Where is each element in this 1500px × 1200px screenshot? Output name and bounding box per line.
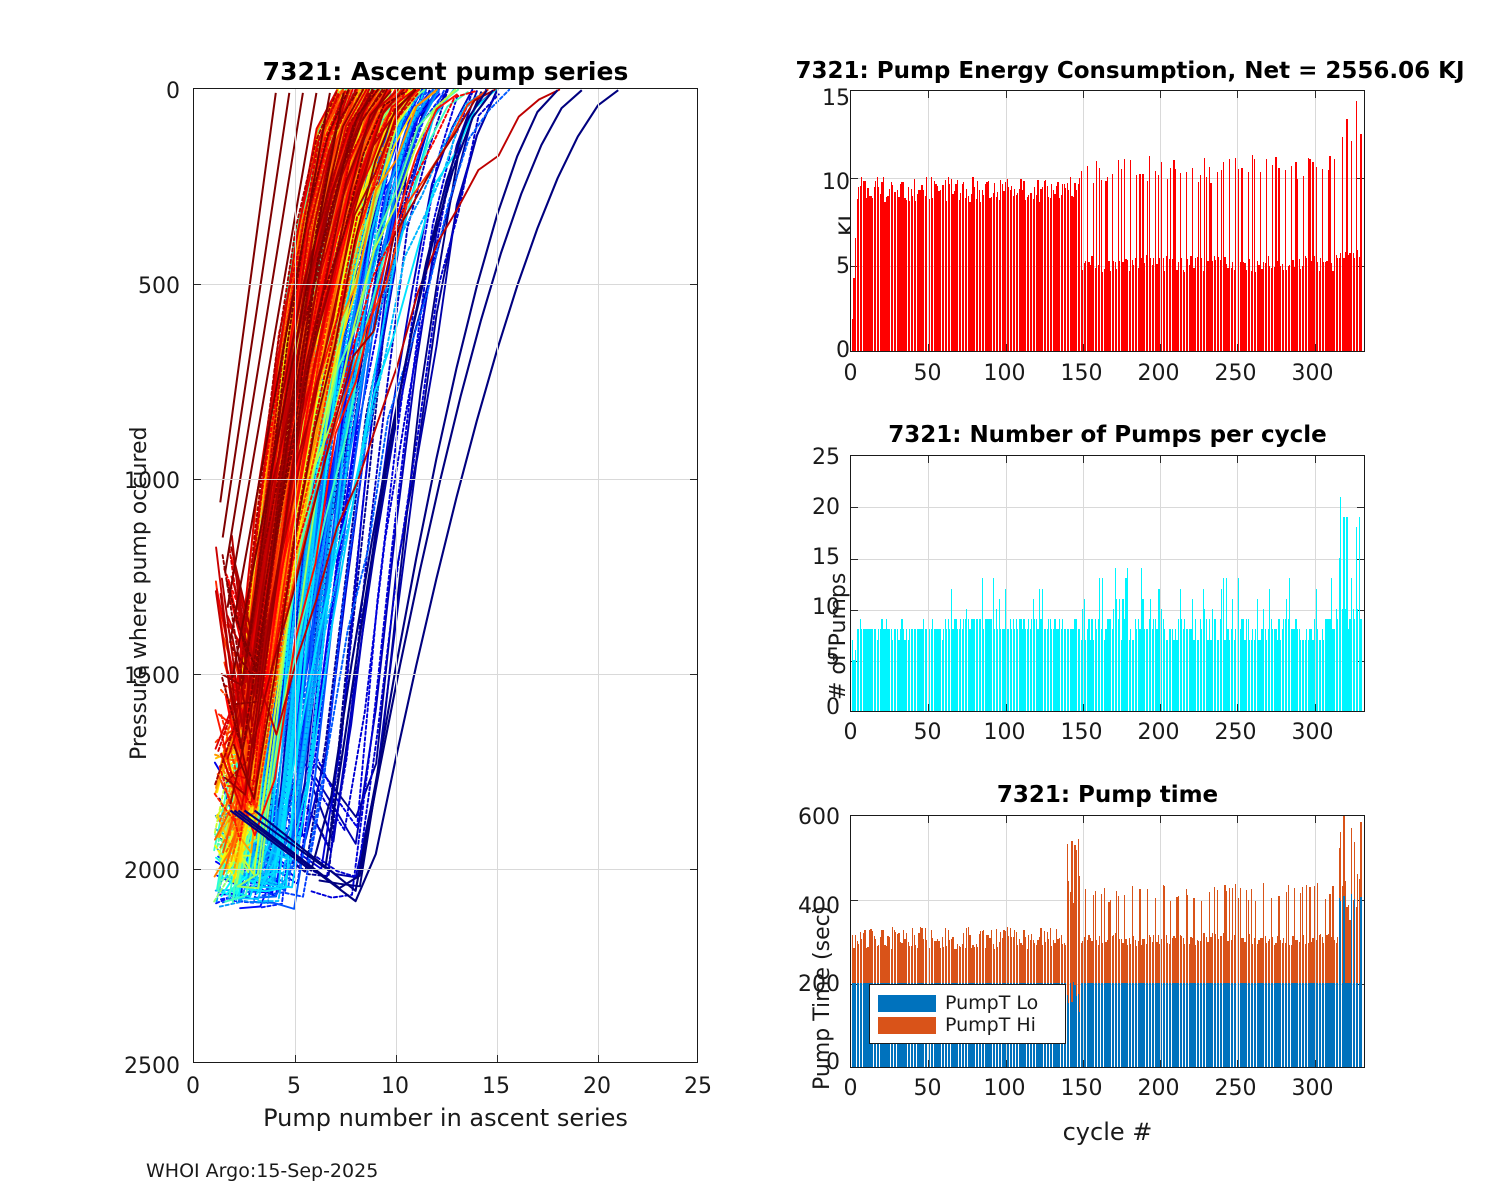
ascent-profile-lines xyxy=(194,89,698,1063)
pumps-x-tickmarks xyxy=(851,456,1364,711)
ascent-tickmark-y1000 xyxy=(194,479,201,480)
pumps-x-tick-0: 0 xyxy=(823,720,878,745)
x-tickmark-top xyxy=(928,816,929,823)
ascent-gridline-x20 xyxy=(598,89,599,1062)
x-tickmark xyxy=(1237,344,1238,351)
ascent-gridline-y500 xyxy=(194,284,697,285)
x-tickmark xyxy=(1083,1060,1084,1067)
pumps-plot-area[interactable] xyxy=(850,455,1365,712)
pumptime-legend[interactable]: PumpT Lo PumpT Hi xyxy=(869,984,1066,1044)
ascent-x-axis-label: Pump number in ascent series xyxy=(193,1104,698,1132)
ascent-chart-title: 7321: Ascent pump series xyxy=(193,57,698,86)
pumps-x-tick-150: 150 xyxy=(1054,720,1109,745)
energy-x-tickmarks xyxy=(851,91,1364,351)
ascent-tickmark-y1000-right xyxy=(690,479,697,480)
x-tickmark-top xyxy=(1160,456,1161,463)
ascent-tickmark-x15 xyxy=(497,1055,498,1062)
ascent-tickmark-y1500-right xyxy=(690,674,697,675)
pumptime-chart-title: 7321: Pump time xyxy=(850,782,1365,808)
energy-x-tick-100: 100 xyxy=(977,361,1032,386)
pumptime-x-tick-0: 0 xyxy=(823,1076,878,1101)
legend-swatch-pumpt-lo xyxy=(878,995,936,1012)
ascent-x-tick-5: 5 xyxy=(264,1074,324,1099)
x-tickmark xyxy=(1237,1060,1238,1067)
pumptime-y-tick-400: 400 xyxy=(780,894,840,919)
x-tickmark xyxy=(928,704,929,711)
energy-x-tick-200: 200 xyxy=(1131,361,1186,386)
legend-swatch-pumpt-hi xyxy=(878,1017,936,1034)
pumps-y-tick-15: 15 xyxy=(790,545,840,570)
pumps-x-tick-50: 50 xyxy=(900,720,955,745)
x-tickmark-top xyxy=(1006,456,1007,463)
panel-ascent-pump-series: 7321: Ascent pump series Pressure where … xyxy=(0,0,740,1200)
ascent-y-tick-500: 500 xyxy=(115,274,180,299)
ascent-x-tick-20: 20 xyxy=(567,1074,627,1099)
pumps-x-tick-100: 100 xyxy=(977,720,1032,745)
ascent-x-tick-15: 15 xyxy=(466,1074,526,1099)
x-tickmark xyxy=(1160,344,1161,351)
energy-x-tick-300: 300 xyxy=(1285,361,1340,386)
x-tickmark-top xyxy=(1237,456,1238,463)
pumptime-x-tick-50: 50 xyxy=(900,1076,955,1101)
x-tickmark xyxy=(928,344,929,351)
x-tickmark xyxy=(1237,704,1238,711)
energy-chart-title: 7321: Pump Energy Consumption, Net = 255… xyxy=(760,58,1500,84)
pumptime-x-axis-label: cycle # xyxy=(850,1118,1365,1146)
x-tickmark-top xyxy=(1315,816,1316,823)
ascent-tickmark-y500-right xyxy=(690,284,697,285)
ascent-y-tick-2000: 2000 xyxy=(115,859,180,884)
ascent-tickmark-y2000-right xyxy=(690,869,697,870)
pumps-chart-title: 7321: Number of Pumps per cycle xyxy=(850,422,1365,448)
x-tickmark xyxy=(1160,1060,1161,1067)
pumptime-y-tick-600: 600 xyxy=(780,805,840,830)
x-tickmark xyxy=(1083,344,1084,351)
legend-label-pumpt-lo: PumpT Lo xyxy=(945,994,1038,1013)
energy-x-tick-250: 250 xyxy=(1208,361,1263,386)
ascent-plot-area[interactable] xyxy=(193,88,698,1063)
ascent-gridline-x10 xyxy=(396,89,397,1062)
ascent-tickmark-x10 xyxy=(396,1055,397,1062)
x-tickmark-top xyxy=(928,456,929,463)
x-tickmark-top xyxy=(1237,816,1238,823)
figure-canvas: 7321: Ascent pump series Pressure where … xyxy=(0,0,1500,1200)
x-tickmark-top xyxy=(1006,91,1007,98)
pumps-y-tick-5: 5 xyxy=(790,645,840,670)
x-tickmark xyxy=(1315,704,1316,711)
pumps-y-axis-label: # of Pumps xyxy=(826,573,851,700)
ascent-gridline-x15 xyxy=(497,89,498,1062)
pumptime-plot-area[interactable]: PumpT Lo PumpT Hi xyxy=(850,815,1365,1068)
ascent-gridline-y1500 xyxy=(194,674,697,675)
pumptime-x-tick-250: 250 xyxy=(1208,1076,1263,1101)
pumptime-x-tick-150: 150 xyxy=(1054,1076,1109,1101)
x-tickmark-top xyxy=(928,91,929,98)
energy-y-tick-0: 0 xyxy=(800,338,850,363)
pumps-y-tick-10: 10 xyxy=(790,595,840,620)
ascent-tickmark-y2000 xyxy=(194,869,201,870)
legend-label-pumpt-hi: PumpT Hi xyxy=(945,1016,1036,1035)
x-tickmark xyxy=(928,1060,929,1067)
ascent-tickmark-x20 xyxy=(598,1055,599,1062)
ascent-gridline-y1000 xyxy=(194,479,697,480)
x-tickmark-top xyxy=(1315,456,1316,463)
x-tickmark-top xyxy=(1160,816,1161,823)
pumps-x-tick-250: 250 xyxy=(1208,720,1263,745)
ascent-gridline-x5 xyxy=(295,89,296,1062)
ascent-tickmark-y1500 xyxy=(194,674,201,675)
x-tickmark xyxy=(1160,704,1161,711)
pumptime-y-tick-0: 0 xyxy=(780,1050,840,1075)
legend-row-pumpt-lo: PumpT Lo xyxy=(878,992,1057,1014)
x-tickmark xyxy=(1006,704,1007,711)
pumptime-x-tick-200: 200 xyxy=(1131,1076,1186,1101)
x-tickmark-top xyxy=(1315,91,1316,98)
pumps-y-tick-20: 20 xyxy=(790,495,840,520)
energy-y-tick-10: 10 xyxy=(800,170,850,195)
energy-x-tick-50: 50 xyxy=(900,361,955,386)
ascent-x-tick-25: 25 xyxy=(668,1074,728,1099)
pumps-y-tick-0: 0 xyxy=(790,695,840,720)
energy-y-tick-5: 5 xyxy=(800,254,850,279)
pumps-x-tick-300: 300 xyxy=(1285,720,1340,745)
x-tickmark-top xyxy=(1237,91,1238,98)
x-tickmark-top xyxy=(1083,91,1084,98)
x-tickmark-top xyxy=(1083,456,1084,463)
footer-credit: WHOI Argo:15-Sep-2025 xyxy=(146,1160,378,1182)
legend-row-pumpt-hi: PumpT Hi xyxy=(878,1014,1057,1036)
panel-pump-time: 7321: Pump time Pump Time (sec) cycle # … xyxy=(740,760,1500,1200)
ascent-y-tick-0: 0 xyxy=(115,79,180,104)
ascent-gridline-y2000 xyxy=(194,869,697,870)
panel-pump-energy: 7321: Pump Energy Consumption, Net = 255… xyxy=(740,0,1500,400)
energy-x-tick-0: 0 xyxy=(823,361,878,386)
pumps-y-tick-25: 25 xyxy=(790,445,840,470)
x-tickmark xyxy=(1006,344,1007,351)
ascent-x-tick-10: 10 xyxy=(365,1074,425,1099)
x-tickmark xyxy=(1315,1060,1316,1067)
energy-plot-area[interactable] xyxy=(850,90,1365,352)
ascent-y-tick-1000: 1000 xyxy=(115,469,180,494)
ascent-y-tick-1500: 1500 xyxy=(115,664,180,689)
energy-y-tick-15: 15 xyxy=(800,86,850,111)
ascent-tickmark-x5 xyxy=(295,1055,296,1062)
energy-x-tick-150: 150 xyxy=(1054,361,1109,386)
x-tickmark-top xyxy=(1083,816,1084,823)
panel-pumps-per-cycle: 7321: Number of Pumps per cycle # of Pum… xyxy=(740,400,1500,760)
x-tickmark xyxy=(1006,1060,1007,1067)
x-tickmark xyxy=(1315,344,1316,351)
pumps-x-tick-200: 200 xyxy=(1131,720,1186,745)
x-tickmark xyxy=(1083,704,1084,711)
x-tickmark-top xyxy=(1006,816,1007,823)
ascent-x-tick-0: 0 xyxy=(163,1074,223,1099)
pumptime-x-tick-100: 100 xyxy=(977,1076,1032,1101)
pumptime-y-tick-200: 200 xyxy=(780,972,840,997)
ascent-tickmark-y500 xyxy=(194,284,201,285)
pumptime-x-tick-300: 300 xyxy=(1285,1076,1340,1101)
x-tickmark-top xyxy=(1160,91,1161,98)
